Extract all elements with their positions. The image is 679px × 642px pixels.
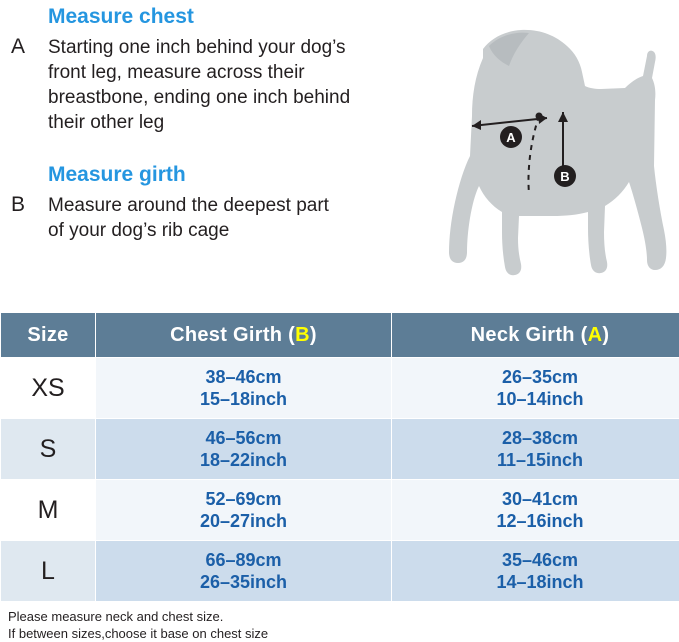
header-neck-mark: A [588, 324, 603, 346]
footnote-line-1: Please measure neck and chest size. [8, 608, 679, 625]
header-chest-suffix: ) [310, 324, 317, 346]
dog-illustration-svg: A B [379, 16, 679, 300]
cell-neck-xs: 26–35cm 10–14inch [392, 358, 679, 419]
instruction-title-girth: Measure girth [48, 162, 375, 188]
table-row: M 52–69cm 20–27inch 30–41cm 12–16inch [1, 480, 679, 541]
instruction-block-girth: B Measure girth Measure around the deepe… [0, 162, 375, 243]
neck-cm-s: 28–38cm [393, 427, 679, 449]
cell-chest-xs: 38–46cm 15–18inch [96, 358, 392, 419]
table-row: XS 38–46cm 15–18inch 26–35cm 10–14inch [1, 358, 679, 419]
instruction-block-chest: A Measure chest Starting one inch behind… [0, 4, 375, 135]
table-body: XS 38–46cm 15–18inch 26–35cm 10–14inch S… [1, 358, 679, 602]
chest-cm-l: 66–89cm [97, 549, 390, 571]
header-chest-mark: B [295, 324, 310, 346]
size-chart-table: Size Chest Girth (B) Neck Girth (A) XS 3… [0, 312, 679, 602]
cell-chest-m: 52–69cm 20–27inch [96, 480, 392, 541]
chest-inch-m: 20–27inch [97, 510, 390, 532]
chest-cm-m: 52–69cm [97, 488, 390, 510]
table-header-row: Size Chest Girth (B) Neck Girth (A) [1, 313, 679, 358]
dog-silhouette [449, 30, 666, 275]
cell-neck-s: 28–38cm 11–15inch [392, 419, 679, 480]
dog-diagram: A B [379, 16, 679, 300]
header-neck-text: Neck Girth ( [471, 324, 588, 346]
neck-inch-xs: 10–14inch [393, 388, 679, 410]
instruction-letter-a: A [0, 35, 36, 59]
header-neck-suffix: ) [602, 324, 609, 346]
marker-b: B [554, 165, 576, 187]
cell-chest-l: 66–89cm 26–35inch [96, 541, 392, 602]
cell-size-xs: XS [1, 358, 96, 419]
chest-inch-l: 26–35inch [97, 571, 390, 593]
header-neck-girth: Neck Girth (A) [392, 313, 679, 358]
chest-cm-s: 46–56cm [97, 427, 390, 449]
neck-inch-l: 14–18inch [393, 571, 679, 593]
instruction-title-chest: Measure chest [48, 4, 375, 30]
cell-neck-m: 30–41cm 12–16inch [392, 480, 679, 541]
neck-cm-m: 30–41cm [393, 488, 679, 510]
chest-inch-s: 18–22inch [97, 449, 390, 471]
chest-inch-xs: 15–18inch [97, 388, 390, 410]
marker-b-label: B [560, 169, 569, 184]
footnote: Please measure neck and chest size. If b… [0, 602, 679, 642]
instructions-list: A Measure chest Starting one inch behind… [0, 0, 375, 243]
neck-inch-s: 11–15inch [393, 449, 679, 471]
cell-size-l: L [1, 541, 96, 602]
instruction-body-chest: Starting one inch behind your dog’s fron… [48, 35, 368, 135]
header-chest-text: Chest Girth ( [170, 324, 295, 346]
cell-neck-l: 35–46cm 14–18inch [392, 541, 679, 602]
cell-size-s: S [1, 419, 96, 480]
table-row: L 66–89cm 26–35inch 35–46cm 14–18inch [1, 541, 679, 602]
chest-cm-xs: 38–46cm [97, 366, 390, 388]
neck-cm-xs: 26–35cm [393, 366, 679, 388]
instructions-section: A Measure chest Starting one inch behind… [0, 0, 679, 312]
header-chest-girth: Chest Girth (B) [96, 313, 392, 358]
cell-size-m: M [1, 480, 96, 541]
cell-chest-s: 46–56cm 18–22inch [96, 419, 392, 480]
header-size: Size [1, 313, 96, 358]
table-row: S 46–56cm 18–22inch 28–38cm 11–15inch [1, 419, 679, 480]
marker-a: A [500, 126, 522, 148]
marker-a-label: A [506, 130, 516, 145]
table-header: Size Chest Girth (B) Neck Girth (A) [1, 313, 679, 358]
neck-inch-m: 12–16inch [393, 510, 679, 532]
neck-cm-l: 35–46cm [393, 549, 679, 571]
instruction-body-girth: Measure around the deepest part of your … [48, 193, 338, 243]
footnote-line-2: If between sizes,choose it base on chest… [8, 625, 679, 642]
instruction-letter-b: B [0, 193, 36, 217]
